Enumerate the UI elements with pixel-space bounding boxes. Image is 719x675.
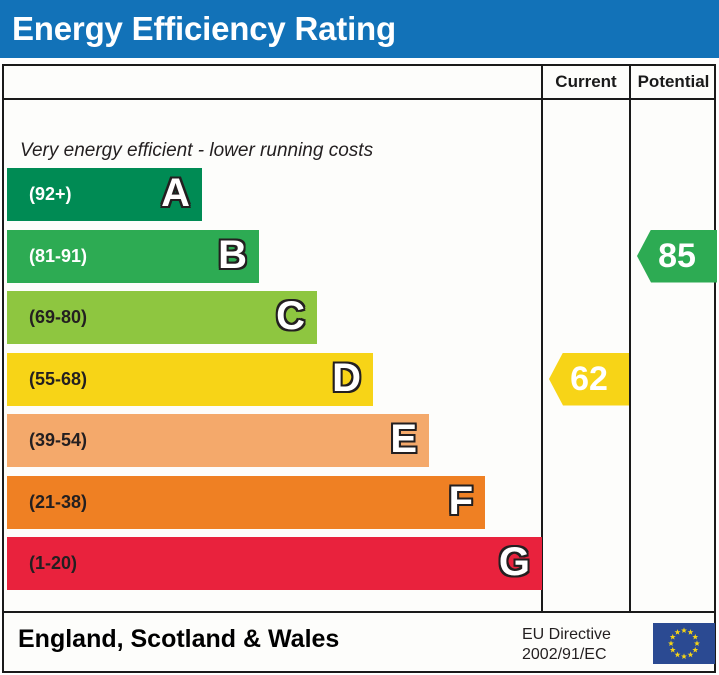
band-a: (92+)A [7,168,202,221]
band-e: (39-54)E [7,414,429,467]
band-letter-d: D [332,353,361,406]
eu-directive-line1: EU Directive [522,625,611,645]
band-letter-c: C [276,291,305,344]
band-bars: (92+)A(81-91)B(69-80)C(55-68)D(39-54)E(2… [4,100,541,611]
eu-flag-icon [653,623,715,664]
potential-rating-marker: 85 [637,230,717,283]
eu-directive-line2: 2002/91/EC [522,645,611,665]
band-range-d: (55-68) [29,353,87,406]
table-header-row: Current Potential [4,66,714,100]
band-range-a: (92+) [29,168,72,221]
band-letter-f: F [449,476,473,529]
band-g: (1-20)G [7,537,542,590]
band-letter-b: B [218,230,247,283]
band-c: (69-80)C [7,291,317,344]
band-letter-g: G [499,537,530,590]
footer-region-label: England, Scotland & Wales [18,625,339,654]
band-b: (81-91)B [7,230,259,283]
band-range-f: (21-38) [29,476,87,529]
band-range-c: (69-80) [29,291,87,344]
band-d: (55-68)D [7,353,373,406]
page-title: Energy Efficiency Rating [12,6,396,52]
band-range-g: (1-20) [29,537,77,590]
band-range-e: (39-54) [29,414,87,467]
chart-area: Very energy efficient - lower running co… [4,100,541,611]
band-letter-a: A [161,168,190,221]
band-letter-e: E [390,414,417,467]
rating-table: Current Potential Very energy efficient … [2,64,716,613]
band-range-b: (81-91) [29,230,87,283]
band-f: (21-38)F [7,476,485,529]
column-header-current: Current [543,66,629,98]
column-divider-2 [629,66,631,611]
footer: England, Scotland & Wales EU Directive 2… [2,613,716,673]
current-rating-marker: 62 [549,353,629,406]
title-bar: Energy Efficiency Rating [0,0,719,58]
energy-efficiency-rating-chart: Energy Efficiency Rating Current Potenti… [0,0,719,675]
footer-eu-directive: EU Directive 2002/91/EC [522,625,611,665]
column-header-potential: Potential [631,66,716,98]
column-divider-1 [541,66,543,611]
